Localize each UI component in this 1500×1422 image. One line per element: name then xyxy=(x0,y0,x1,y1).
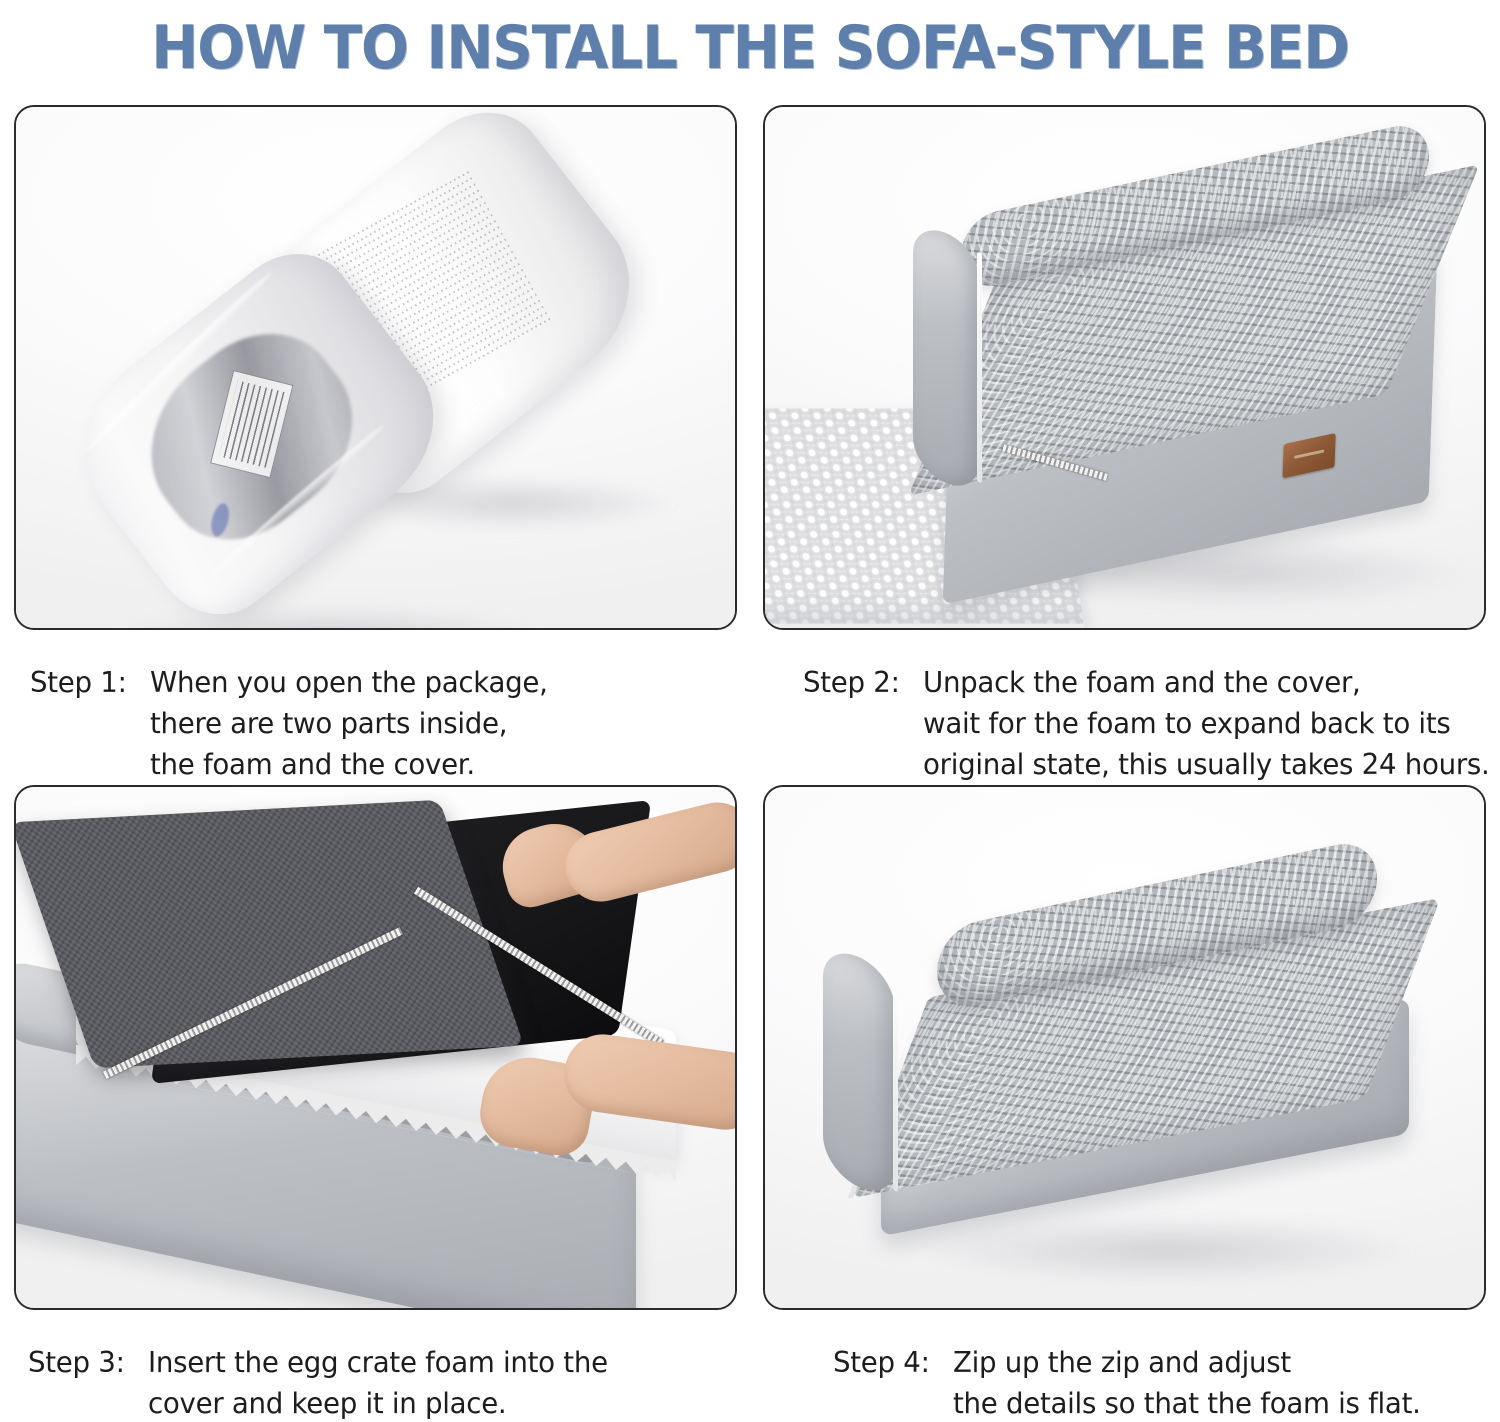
infographic-page: HOW TO INSTALL THE SOFA-STYLE BED Ste xyxy=(0,0,1500,1422)
step-caption-1: Step 1: When you open the package, there… xyxy=(14,630,737,785)
step-label-4: Step 4: xyxy=(833,1342,949,1383)
side-bolster-velvet xyxy=(913,220,979,497)
steps-grid: Step 1: When you open the package, there… xyxy=(14,105,1486,1422)
step-line: Unpack the foam and the cover, xyxy=(923,662,1490,703)
step-cell-3: Step 3: Insert the egg crate foam into t… xyxy=(14,785,737,1422)
step-photo-3 xyxy=(14,785,737,1310)
step-text-2: Unpack the foam and the cover, wait for … xyxy=(923,662,1500,785)
step-text-1: When you open the package, there are two… xyxy=(150,662,737,785)
flap-mesh-fabric xyxy=(14,800,524,1068)
cover-top-flap xyxy=(14,800,524,1068)
step-cell-4: Step 4: Zip up the zip and adjust the de… xyxy=(763,785,1486,1422)
step-cell-2: Step 2: Unpack the foam and the cover, w… xyxy=(763,105,1486,785)
step-caption-4: Step 4: Zip up the zip and adjust the de… xyxy=(763,1310,1486,1422)
step-line: wait for the foam to expand back to its xyxy=(923,703,1490,744)
foam-zigzag-edge xyxy=(763,624,1088,630)
step-line: cover and keep it in place. xyxy=(148,1383,720,1422)
step-photo-4 xyxy=(763,785,1486,1310)
step-text-3: Insert the egg crate foam into the cover… xyxy=(148,1342,737,1422)
side-bolster-piping xyxy=(893,978,898,1192)
side-bolster-piping xyxy=(977,252,982,484)
step-label-1: Step 1: xyxy=(30,662,146,703)
bed-side-bolster-2 xyxy=(913,220,979,497)
step-line: Zip up the zip and adjust xyxy=(953,1342,1470,1383)
step-photo-1 xyxy=(14,105,737,630)
side-bolster-velvet xyxy=(823,941,895,1203)
bed-side-bolster-4 xyxy=(823,941,895,1203)
step-text-4: Zip up the zip and adjust the details so… xyxy=(953,1342,1486,1422)
step-caption-2: Step 2: Unpack the foam and the cover, w… xyxy=(763,630,1486,785)
step-line: When you open the package, xyxy=(150,662,720,703)
step-line: the foam and the cover. xyxy=(150,744,720,785)
step-label-2: Step 2: xyxy=(803,662,919,703)
step-line: original state, this usually takes 24 ho… xyxy=(923,744,1490,785)
bed-shadow xyxy=(915,1217,1415,1283)
step-line: there are two parts inside, xyxy=(150,703,720,744)
page-title: HOW TO INSTALL THE SOFA-STYLE BED xyxy=(151,17,1349,79)
step-caption-3: Step 3: Insert the egg crate foam into t… xyxy=(14,1310,737,1422)
step-cell-1: Step 1: When you open the package, there… xyxy=(14,105,737,785)
step-label-3: Step 3: xyxy=(28,1342,144,1383)
step-line: Insert the egg crate foam into the xyxy=(148,1342,720,1383)
step-photo-2 xyxy=(763,105,1486,630)
step-line: the details so that the foam is flat. xyxy=(953,1383,1470,1422)
title-bar: HOW TO INSTALL THE SOFA-STYLE BED xyxy=(0,0,1500,95)
